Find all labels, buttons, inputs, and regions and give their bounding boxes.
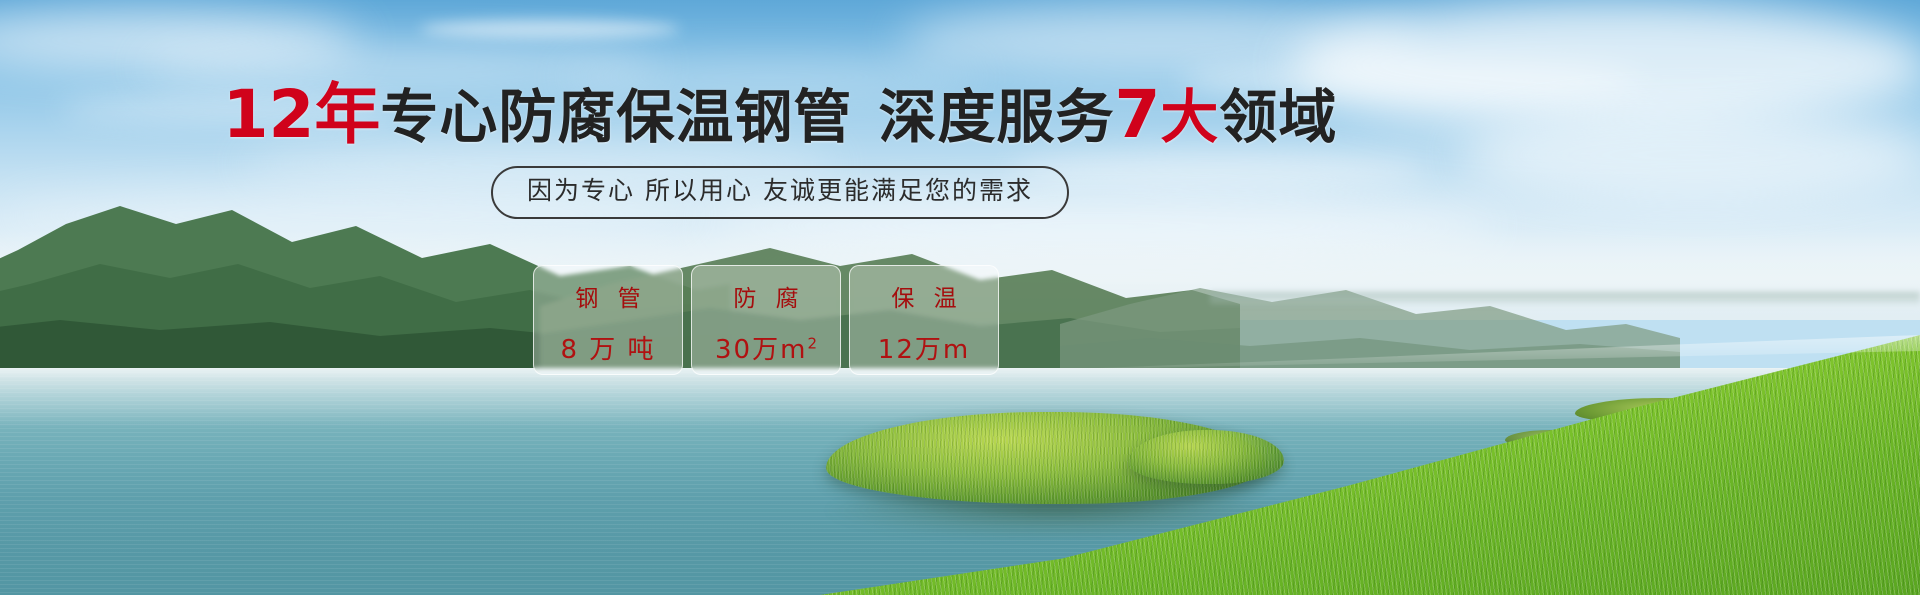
headline-main-1: 专心防腐保温钢管 (380, 83, 852, 151)
stat-card-value: 8 万 吨 (560, 329, 655, 366)
stat-card-value: 30万m2 (715, 329, 817, 366)
page-title: 12年专心防腐保温钢管深度服务7大领域 (0, 82, 1560, 148)
headline-main-3: 领域 (1219, 83, 1337, 151)
stat-card-title: 保 温 (885, 279, 962, 313)
grass-islet-small (1128, 430, 1284, 484)
stat-card-anticorrosion[interactable]: 防 腐 30万m2 (691, 265, 841, 375)
headline-years-unit: 年 (314, 76, 380, 153)
stat-value-text: 8 万 吨 (560, 335, 655, 365)
stat-value-text: 12万m (878, 335, 970, 365)
stat-card-group: 钢 管 8 万 吨 防 腐 30万m2 保 温 12万m (533, 265, 999, 375)
stat-card-steel-pipe[interactable]: 钢 管 8 万 吨 (533, 265, 683, 375)
headline-years-number: 12 (223, 76, 315, 153)
stat-value-superscript: 2 (807, 334, 817, 352)
headline-main-2: 深度服务 (878, 83, 1114, 151)
subtitle-container: 因为专心 所以用心 友诚更能满足您的需求 (0, 166, 1560, 219)
stat-card-value: 12万m (878, 329, 970, 366)
promo-banner: 12年专心防腐保温钢管深度服务7大领域 因为专心 所以用心 友诚更能满足您的需求… (0, 0, 1920, 595)
stat-value-text: 30万m (715, 335, 807, 365)
stat-card-title: 钢 管 (569, 279, 646, 313)
islet-texture (1128, 430, 1284, 484)
stat-card-insulation[interactable]: 保 温 12万m (849, 265, 999, 375)
subtitle-pill: 因为专心 所以用心 友诚更能满足您的需求 (491, 166, 1069, 219)
headline-fields-da: 大 (1160, 83, 1219, 151)
cloud-shape (420, 20, 680, 38)
far-shoreline (1210, 292, 1920, 304)
stat-card-title: 防 腐 (727, 279, 804, 313)
headline-fields-number: 7 (1114, 76, 1160, 153)
